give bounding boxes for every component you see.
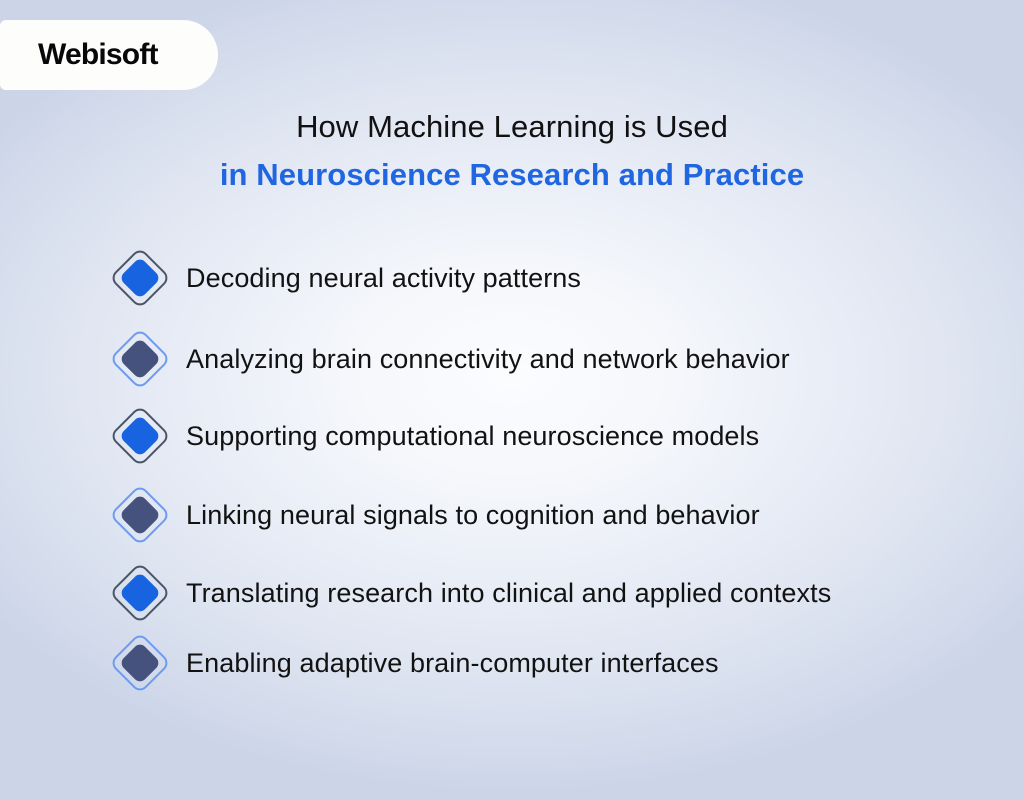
brand-name: Webisoft xyxy=(38,40,158,70)
diamond-navy-icon xyxy=(112,487,168,543)
list-item-label: Enabling adaptive brain-computer interfa… xyxy=(186,646,719,680)
diamond-blue-icon xyxy=(112,565,168,621)
list-item-label: Translating research into clinical and a… xyxy=(186,576,831,610)
brand-logo-badge: Webisoft xyxy=(0,20,218,90)
bullet-list: Decoding neural activity patterns Analyz… xyxy=(112,248,1012,693)
list-item: Linking neural signals to cognition and … xyxy=(112,485,1012,545)
diamond-blue-icon xyxy=(112,408,168,464)
diamond-navy-icon xyxy=(112,331,168,387)
list-item: Analyzing brain connectivity and network… xyxy=(112,329,1012,389)
list-item: Enabling adaptive brain-computer interfa… xyxy=(112,633,1012,693)
diamond-blue-icon xyxy=(112,250,168,306)
list-item: Supporting computational neuroscience mo… xyxy=(112,406,1012,466)
diamond-navy-icon xyxy=(112,635,168,691)
infographic-slide: Webisoft How Machine Learning is Used in… xyxy=(0,0,1024,800)
page-title-line2: in Neuroscience Research and Practice xyxy=(0,154,1024,196)
list-item: Decoding neural activity patterns xyxy=(112,248,1012,308)
list-item-label: Decoding neural activity patterns xyxy=(186,261,581,295)
list-item: Translating research into clinical and a… xyxy=(112,563,1012,623)
list-item-label: Supporting computational neuroscience mo… xyxy=(186,419,759,453)
page-title: How Machine Learning is Used in Neurosci… xyxy=(0,107,1024,196)
page-title-line1: How Machine Learning is Used xyxy=(0,107,1024,147)
list-item-label: Analyzing brain connectivity and network… xyxy=(186,342,790,376)
list-item-label: Linking neural signals to cognition and … xyxy=(186,498,760,532)
